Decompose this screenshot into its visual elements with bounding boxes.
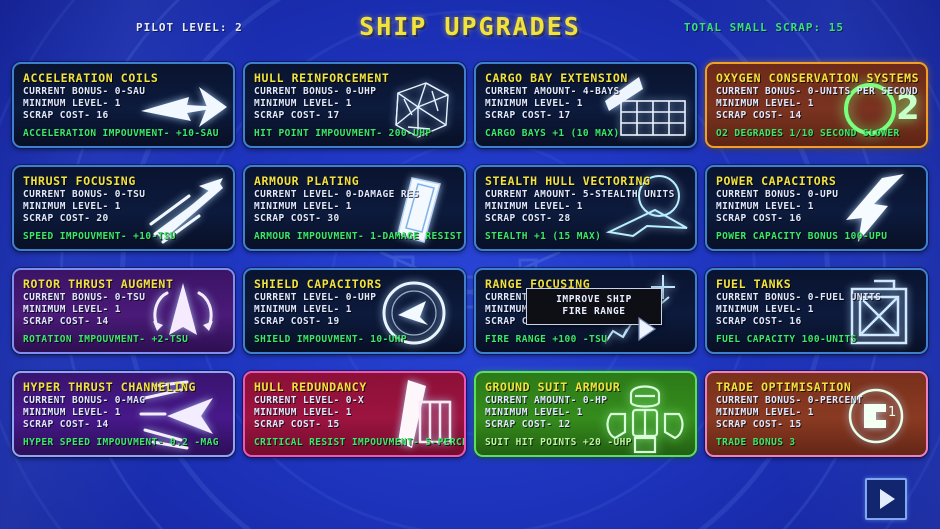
upgrade-scrap-cost: SCRAP COST- 15 (254, 419, 456, 430)
upgrade-row: HYPER THRUST CHANNELINGCURRENT BONUS- 0-… (12, 371, 928, 457)
upgrade-card[interactable]: POWER CAPACITORSCURRENT BONUS- 0-UPUMINI… (705, 165, 928, 251)
upgrade-effect: ARMOUR IMPOUVMENT- 1-DAMAGE RESIST (254, 231, 462, 242)
upgrade-card[interactable]: 2OXYGEN CONSERVATION SYSTEMSCURRENT BONU… (705, 62, 928, 148)
upgrade-current: CURRENT BONUS- 0-UPU (716, 189, 918, 200)
upgrade-card[interactable]: 1TRADE OPTIMISATIONCURRENT BONUS- 0-PERC… (705, 371, 928, 457)
upgrade-current: CURRENT BONUS- 0-MAG (23, 395, 225, 406)
upgrade-scrap-cost: SCRAP COST- 30 (254, 213, 456, 224)
upgrade-card[interactable]: GROUND SUIT ARMOURCURRENT AMOUNT- 0-HPMI… (474, 371, 697, 457)
upgrade-scrap-cost: SCRAP COST- 17 (254, 110, 456, 121)
upgrade-scrap-cost: SCRAP COST- 14 (716, 110, 918, 121)
upgrade-title: HYPER THRUST CHANNELING (23, 380, 225, 394)
upgrade-effect: O2 DEGRADES 1/10 SECOND SLOWER (716, 128, 900, 139)
upgrade-scrap-cost: SCRAP COST- 12 (485, 419, 687, 430)
upgrade-min-level: MINIMUM LEVEL- 1 (716, 407, 918, 418)
upgrade-card[interactable]: THRUST FOCUSINGCURRENT BONUS- 0-TSUMINIM… (12, 165, 235, 251)
upgrade-card[interactable]: STEALTH HULL VECTORINGCURRENT AMOUNT- 5-… (474, 165, 697, 251)
upgrade-card[interactable]: SHIELD CAPACITORSCURRENT LEVEL- 0-UHPMIN… (243, 268, 466, 354)
upgrade-title: POWER CAPACITORS (716, 174, 918, 188)
upgrade-min-level: MINIMUM LEVEL- 1 (716, 98, 918, 109)
upgrade-min-level: MINIMUM LEVEL- 1 (716, 201, 918, 212)
upgrade-effect: ACCELERATION IMPOUVMENT- +10-SAU (23, 128, 219, 139)
upgrade-scrap-cost: SCRAP COST- 16 (716, 316, 918, 327)
upgrade-card[interactable]: HULL REDUNDANCYCURRENT LEVEL- 0-XMINIMUM… (243, 371, 466, 457)
upgrade-effect: FUEL CAPACITY 100-UNITS (716, 334, 857, 345)
upgrade-card[interactable]: HYPER THRUST CHANNELINGCURRENT BONUS- 0-… (12, 371, 235, 457)
upgrade-scrap-cost: SCRAP COST- 28 (485, 213, 687, 224)
tooltip-line-1: IMPROVE SHIP (531, 294, 657, 306)
upgrade-min-level: MINIMUM LEVEL- 1 (254, 304, 456, 315)
upgrade-min-level: MINIMUM LEVEL- 1 (23, 304, 225, 315)
upgrade-scrap-cost: SCRAP COST- 20 (23, 213, 225, 224)
upgrade-title: CARGO BAY EXTENSION (485, 71, 687, 85)
upgrade-effect: SHIELD IMPOUVMENT- 10-UHP (254, 334, 407, 345)
upgrade-current: CURRENT LEVEL- 0-UHP (254, 292, 456, 303)
upgrade-card[interactable]: FUEL TANKSCURRENT BONUS- 0-FUEL UNITSMIN… (705, 268, 928, 354)
upgrade-min-level: MINIMUM LEVEL- 1 (23, 98, 225, 109)
upgrade-title: ARMOUR PLATING (254, 174, 456, 188)
upgrade-scrap-cost: SCRAP COST- 16 (23, 110, 225, 121)
upgrade-scrap-cost: SCRAP COST- 17 (485, 110, 687, 121)
next-page-button[interactable] (865, 478, 907, 520)
upgrade-title: ACCELERATION COILS (23, 71, 225, 85)
upgrade-min-level: MINIMUM LEVEL- 1 (716, 304, 918, 315)
upgrade-card[interactable]: RANGE FOCUSINGCURRENT BONUS- 0-TSUMINIMU… (474, 268, 697, 354)
upgrade-card[interactable]: ARMOUR PLATINGCURRENT LEVEL- 0-DAMAGE RE… (243, 165, 466, 251)
upgrade-current: CURRENT BONUS- 0-TSU (23, 292, 225, 303)
upgrade-grid: ACCELERATION COILSCURRENT BONUS- 0-SAUMI… (12, 62, 928, 474)
upgrade-title: STEALTH HULL VECTORING (485, 174, 687, 188)
upgrade-card[interactable]: ACCELERATION COILSCURRENT BONUS- 0-SAUMI… (12, 62, 235, 148)
upgrade-current: CURRENT AMOUNT- 5-STEALTH UNITS (485, 189, 687, 200)
upgrade-title: ROTOR THRUST AUGMENT (23, 277, 225, 291)
upgrade-effect: SPEED IMPOUVMENT- +10-TSU (23, 231, 176, 242)
upgrade-title: GROUND SUIT ARMOUR (485, 380, 687, 394)
upgrade-current: CURRENT BONUS- 0-PERCENT (716, 395, 918, 406)
upgrade-card[interactable]: HULL REINFORCEMENTCURRENT BONUS- 0-UHPMI… (243, 62, 466, 148)
upgrade-current: CURRENT BONUS- 0-FUEL UNITS (716, 292, 918, 303)
upgrade-effect: SUIT HIT POINTS +20 -UHP (485, 437, 632, 448)
upgrade-min-level: MINIMUM LEVEL- 1 (254, 98, 456, 109)
upgrade-scrap-cost: SCRAP COST- 19 (254, 316, 456, 327)
upgrade-row: ACCELERATION COILSCURRENT BONUS- 0-SAUMI… (12, 62, 928, 148)
upgrade-current: CURRENT AMOUNT- 4-BAYS (485, 86, 687, 97)
upgrade-effect: HYPER SPEED IMPOUVMENT- 0.2 -MAG (23, 437, 219, 448)
upgrade-min-level: MINIMUM LEVEL- 1 (485, 98, 687, 109)
mouse-cursor-icon (636, 316, 658, 346)
upgrade-min-level: MINIMUM LEVEL- 1 (485, 201, 687, 212)
upgrade-current: CURRENT BONUS- 0-UHP (254, 86, 456, 97)
upgrade-scrap-cost: SCRAP COST- 14 (23, 419, 225, 430)
upgrade-title: HULL REDUNDANCY (254, 380, 456, 394)
upgrade-title: OXYGEN CONSERVATION SYSTEMS (716, 71, 918, 85)
upgrade-current: CURRENT BONUS- 0-TSU (23, 189, 225, 200)
upgrade-scrap-cost: SCRAP COST- 16 (716, 213, 918, 224)
upgrade-title: FUEL TANKS (716, 277, 918, 291)
upgrade-current: CURRENT BONUS- 0-SAU (23, 86, 225, 97)
upgrade-effect: POWER CAPACITY BONUS 100-UPU (716, 231, 887, 242)
upgrade-title: HULL REINFORCEMENT (254, 71, 456, 85)
upgrade-current: CURRENT BONUS- 0-UNITS PER SECOND (716, 86, 918, 97)
upgrade-current: CURRENT LEVEL- 0-DAMAGE RES (254, 189, 456, 200)
upgrade-title: TRADE OPTIMISATION (716, 380, 918, 394)
upgrade-effect: CRITICAL RESIST IMPOUVMENT- 5-PERCENT (254, 437, 466, 448)
upgrade-min-level: MINIMUM LEVEL- 1 (254, 201, 456, 212)
upgrade-row: THRUST FOCUSINGCURRENT BONUS- 0-TSUMINIM… (12, 165, 928, 251)
upgrade-current: CURRENT AMOUNT- 0-HP (485, 395, 687, 406)
upgrade-current: CURRENT LEVEL- 0-X (254, 395, 456, 406)
header: PILOT LEVEL: 2 SHIP UPGRADES TOTAL SMALL… (0, 0, 940, 52)
upgrade-min-level: MINIMUM LEVEL- 1 (254, 407, 456, 418)
upgrade-card[interactable]: ROTOR THRUST AUGMENTCURRENT BONUS- 0-TSU… (12, 268, 235, 354)
upgrade-title: SHIELD CAPACITORS (254, 277, 456, 291)
upgrade-effect: HIT POINT IMPOUVMENT- 200-UHP (254, 128, 431, 139)
upgrade-min-level: MINIMUM LEVEL- 1 (23, 407, 225, 418)
upgrade-row: ROTOR THRUST AUGMENTCURRENT BONUS- 0-TSU… (12, 268, 928, 354)
play-triangle-icon (880, 489, 895, 509)
upgrade-card[interactable]: CARGO BAY EXTENSIONCURRENT AMOUNT- 4-BAY… (474, 62, 697, 148)
upgrade-effect: ROTATION IMPOUVMENT- +2-TSU (23, 334, 188, 345)
upgrade-min-level: MINIMUM LEVEL- 1 (485, 407, 687, 418)
upgrade-scrap-cost: SCRAP COST- 15 (716, 419, 918, 430)
upgrade-effect: FIRE RANGE +100 -TSU (485, 334, 607, 345)
upgrade-effect: STEALTH +1 (15 MAX) (485, 231, 601, 242)
upgrade-title: THRUST FOCUSING (23, 174, 225, 188)
total-scrap-label: TOTAL SMALL SCRAP: 15 (684, 21, 844, 34)
upgrade-scrap-cost: SCRAP COST- 14 (23, 316, 225, 327)
upgrade-effect: CARGO BAYS +1 (10 MAX) (485, 128, 620, 139)
upgrade-effect: TRADE BONUS 3 (716, 437, 796, 448)
upgrade-min-level: MINIMUM LEVEL- 1 (23, 201, 225, 212)
